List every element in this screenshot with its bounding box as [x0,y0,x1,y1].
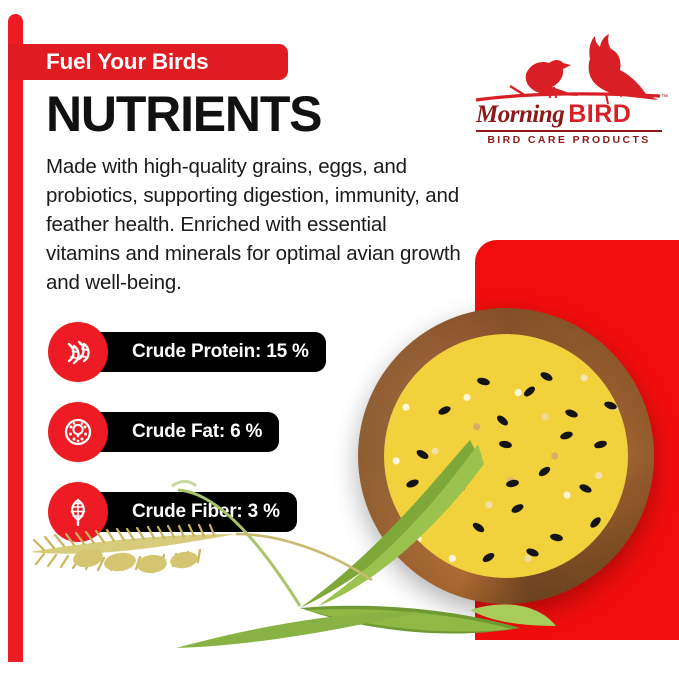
crude-protein-text: Crude Protein: 15 % [132,341,309,363]
dna-helix-icon [48,322,108,382]
logo-script-word: Morning [476,101,564,128]
poster-canvas: Fuel Your Birds NUTRIENTS Made with high… [0,0,679,679]
description-paragraph: Made with high-quality grains, eggs, and… [46,152,466,297]
logo-divider [476,130,662,132]
logo-bold-word: BIRD [568,100,631,128]
logo-wordmark: MorningBIRD BIRD CARE PRODUCTS [476,100,662,146]
foliage-garnish [0,430,560,679]
eyebrow-banner: Fuel Your Birds [8,44,288,80]
finch-silhouette [526,60,578,98]
page-title: NUTRIENTS [46,86,321,142]
eyebrow-text: Fuel Your Birds [46,49,208,75]
logo-tagline: BIRD CARE PRODUCTS [476,134,662,146]
crude-protein-pill: Crude Protein: 15 % [84,332,326,372]
trademark-symbol: ™ [661,94,668,101]
brand-logo: MorningBIRD BIRD CARE PRODUCTS ™ [470,34,666,152]
